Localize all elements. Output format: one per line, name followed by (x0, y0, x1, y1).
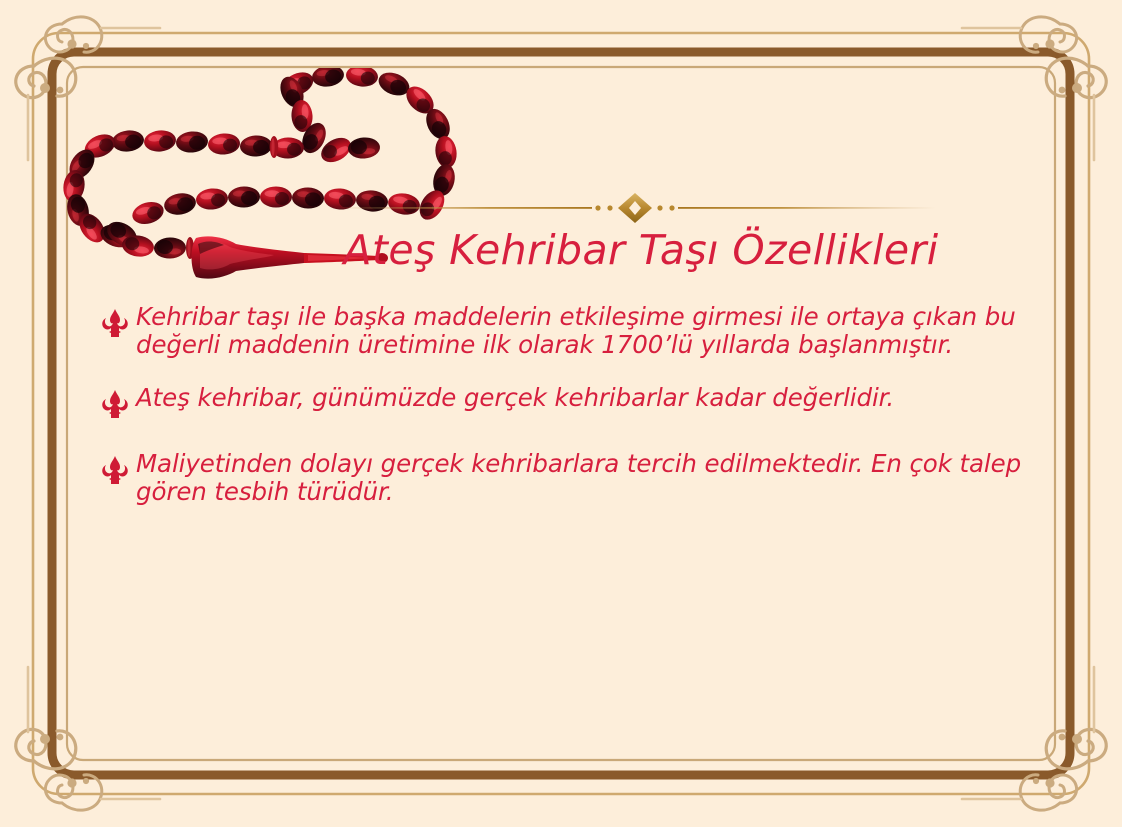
features-list: Kehribar taşı ile başka maddelerin etkil… (100, 303, 1050, 532)
info-card: Ateş Kehribar Taşı Özellikleri Kehribar … (0, 0, 1122, 827)
list-item-text: Maliyetinden dolayı gerçek kehribarlara … (136, 450, 1050, 505)
fleur-de-lis-icon (100, 454, 130, 486)
list-item-text: Ateş kehribar, günümüzde gerçek kehribar… (136, 384, 1050, 412)
fleur-de-lis-icon (100, 307, 130, 339)
list-item: Kehribar taşı ile başka maddelerin etkil… (100, 303, 1050, 358)
bead-separator-disc (270, 136, 278, 158)
list-item: Maliyetinden dolayı gerçek kehribarlara … (100, 450, 1050, 505)
page-title: Ateş Kehribar Taşı Özellikleri (0, 226, 1122, 274)
list-item: Ateş kehribar, günümüzde gerçek kehribar… (100, 384, 1050, 420)
list-item-text: Kehribar taşı ile başka maddelerin etkil… (136, 303, 1050, 358)
fleur-de-lis-icon (100, 388, 130, 420)
corner-ornament-bottom-left (16, 667, 160, 810)
corner-ornament-top-right (962, 17, 1106, 160)
corner-ornament-bottom-right (962, 667, 1106, 810)
diamond-divider (330, 190, 940, 226)
